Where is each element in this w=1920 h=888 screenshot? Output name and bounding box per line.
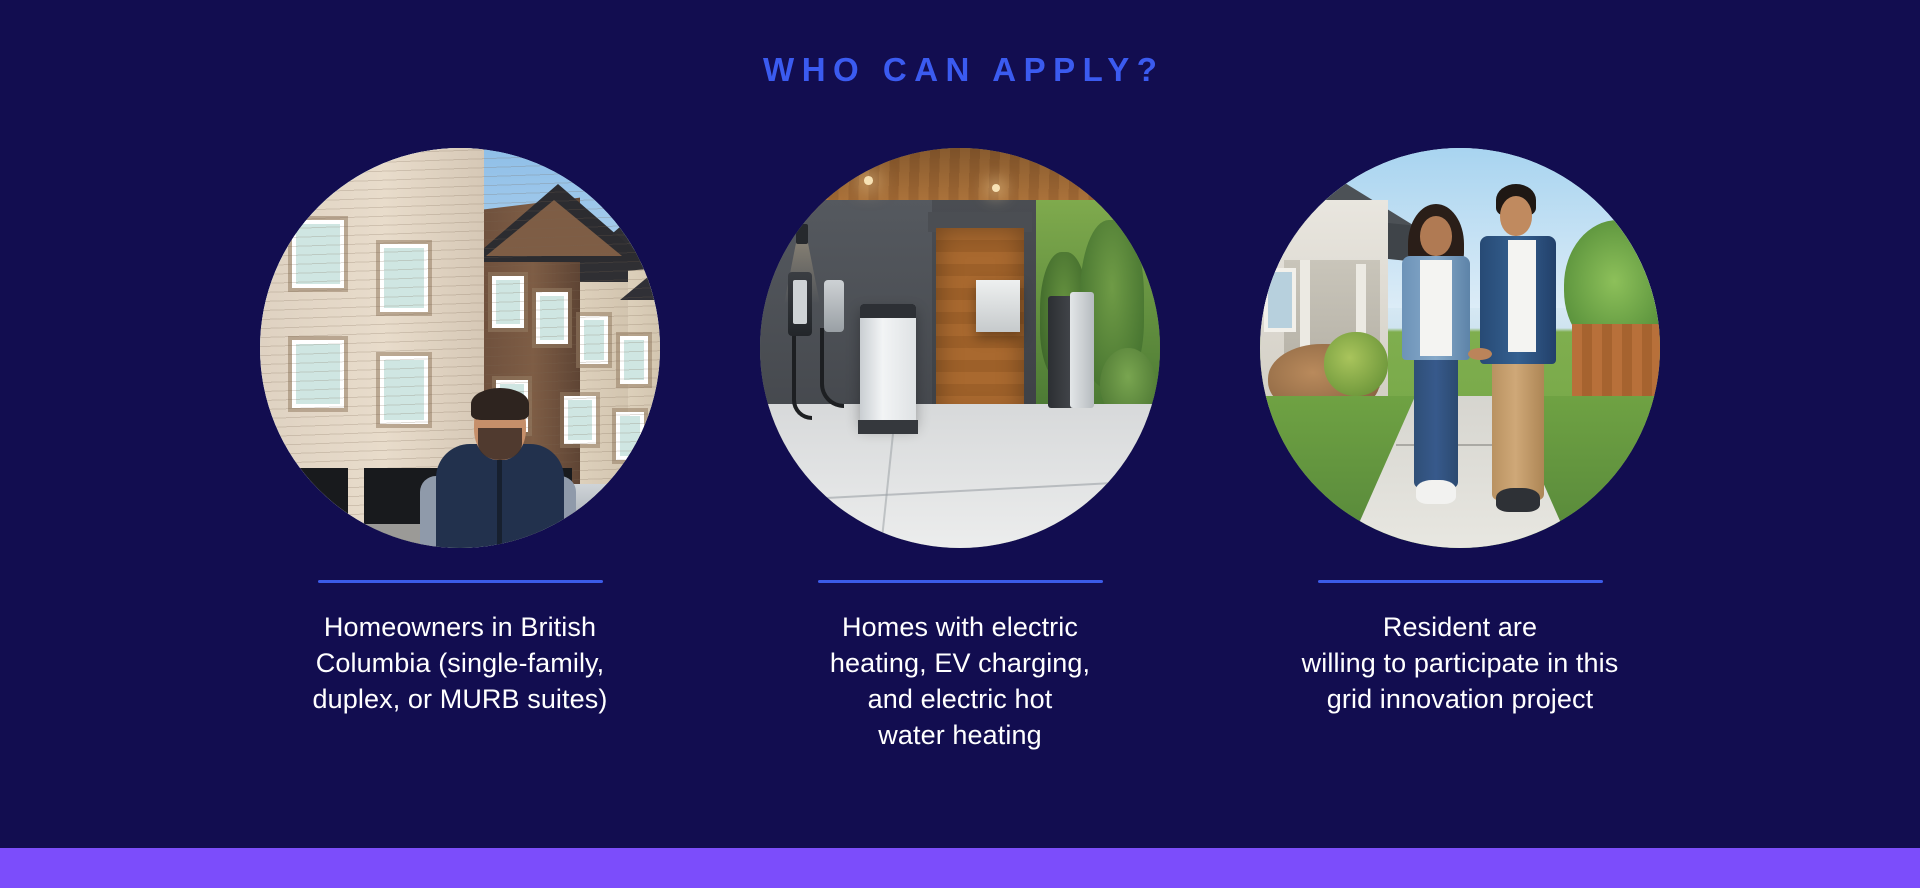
card-image-wrap-electric-homes xyxy=(760,148,1160,548)
card-divider xyxy=(818,580,1103,583)
card-image-wrap-willing-residents xyxy=(1260,148,1660,548)
page-title: WHO CAN APPLY? xyxy=(0,53,1920,86)
eligibility-card-electric-homes: Homes with electric heating, EV charging… xyxy=(740,148,1180,754)
bottom-accent-bar xyxy=(0,848,1920,888)
card-divider xyxy=(1318,580,1603,583)
couple-walking-neighbourhood-photo xyxy=(1260,148,1660,548)
eligibility-card-list: Homeowners in British Columbia (single-f… xyxy=(0,148,1920,754)
who-can-apply-slide: WHO CAN APPLY? xyxy=(0,0,1920,888)
card-divider xyxy=(318,580,603,583)
eligibility-card-homeowners: Homeowners in British Columbia (single-f… xyxy=(240,148,680,718)
eligibility-card-willing-residents: Resident are willing to participate in t… xyxy=(1240,148,1680,718)
card-image-wrap-homeowners xyxy=(260,148,660,548)
card-caption-willing-residents: Resident are willing to participate in t… xyxy=(1302,610,1619,718)
townhouse-row-with-homeowner-photo xyxy=(260,148,660,548)
card-caption-electric-homes: Homes with electric heating, EV charging… xyxy=(830,610,1090,754)
card-caption-homeowners: Homeowners in British Columbia (single-f… xyxy=(313,610,608,718)
garage-with-ev-chargers-photo xyxy=(760,148,1160,548)
